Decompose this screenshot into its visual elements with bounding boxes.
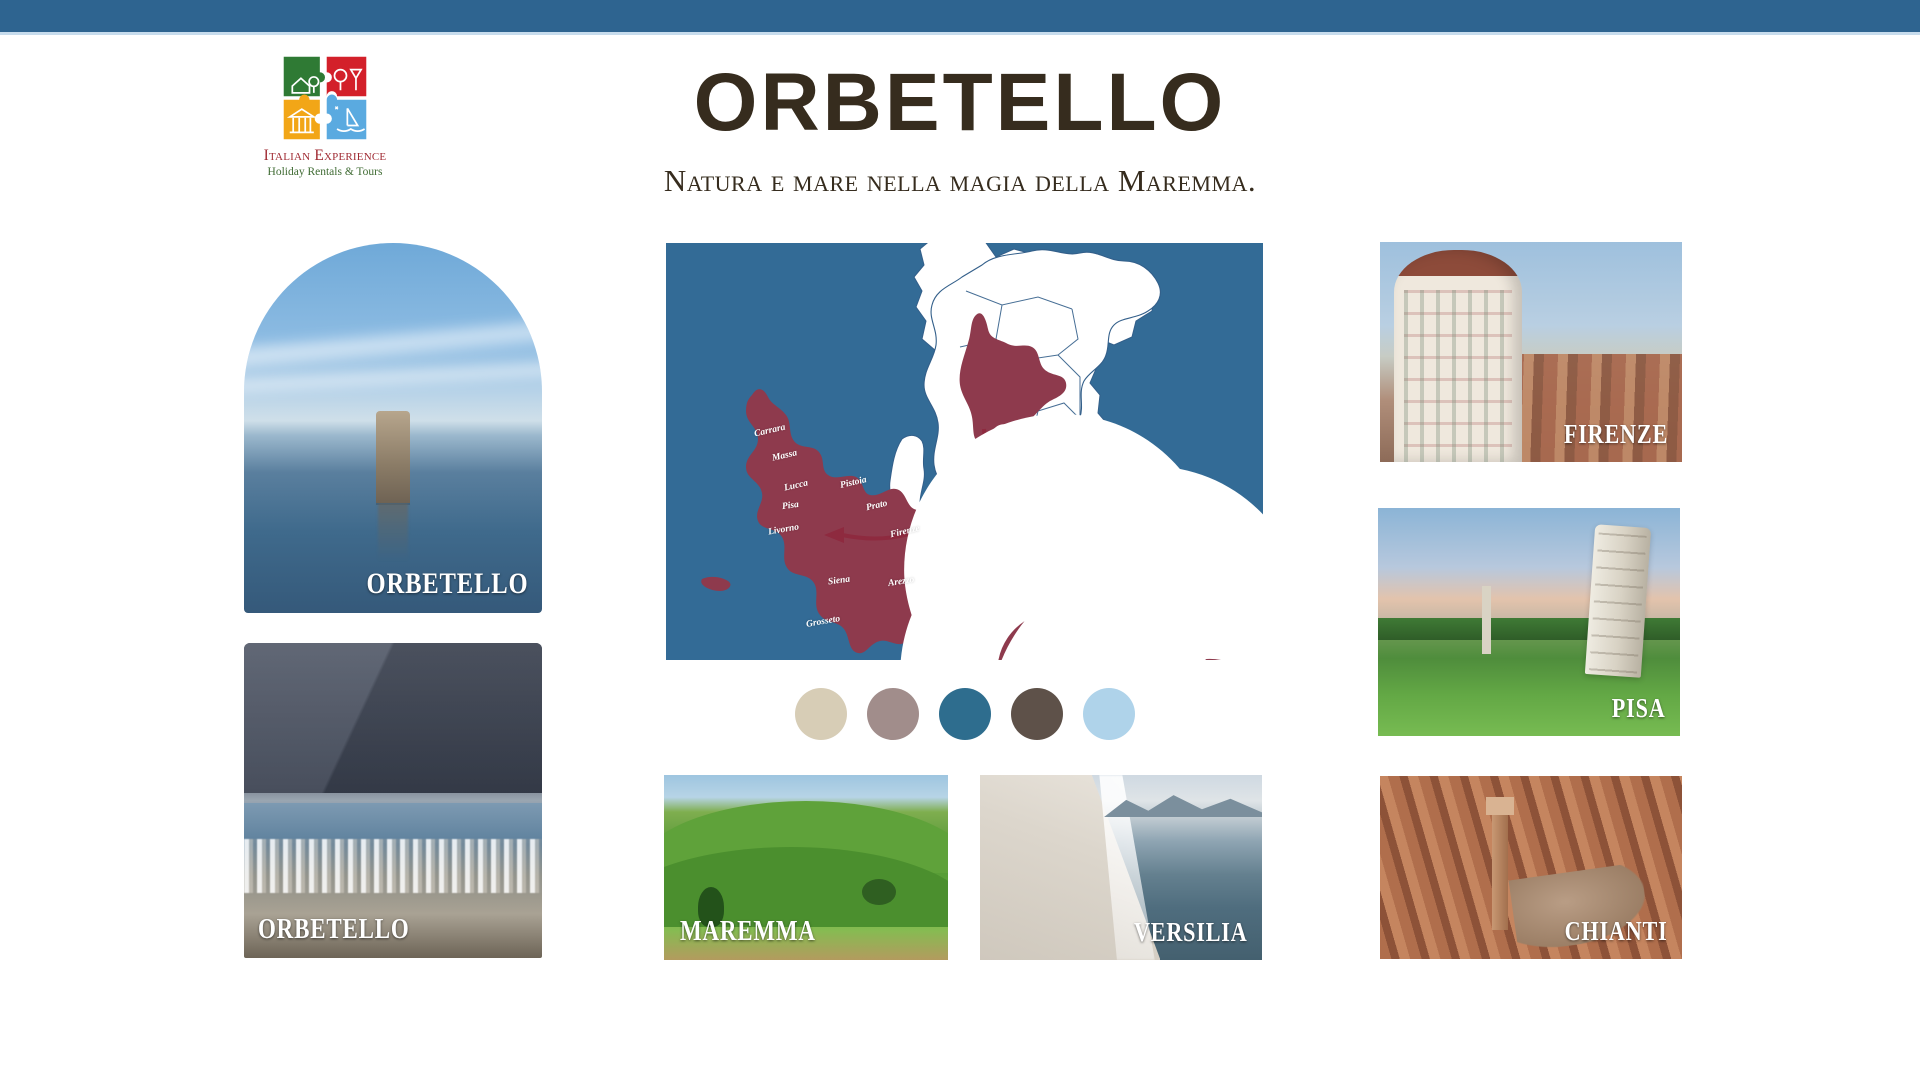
card-label-pisa: PISA — [1612, 693, 1666, 724]
hillside-shape — [244, 643, 542, 793]
bush-shape — [862, 879, 896, 905]
town-buildings-shape — [244, 839, 542, 893]
photo-card-versilia[interactable]: VERSILIA — [980, 775, 1262, 960]
map-pin-lucca[interactable] — [790, 469, 799, 481]
map-pin-livorno[interactable] — [758, 518, 767, 530]
duomo-shape — [1394, 250, 1522, 462]
top-accent-underline — [0, 32, 1920, 35]
swatch-light-blue[interactable] — [1083, 688, 1135, 740]
swatch-beige[interactable] — [795, 688, 847, 740]
bell-tower-shape — [1492, 809, 1508, 930]
card-label-chianti: CHIANTI — [1565, 916, 1668, 947]
cloud-streak-icon — [244, 361, 542, 393]
color-palette — [795, 688, 1135, 740]
swatch-dusty-rose[interactable] — [867, 688, 919, 740]
page-subtitle: Natura e mare nella magia della Maremma. — [0, 163, 1920, 199]
card-label-orbetello-tower: ORBETELLO — [366, 567, 528, 601]
swatch-dark-brown[interactable] — [1011, 688, 1063, 740]
tower-reflection-shape — [378, 503, 408, 561]
photo-card-orbetello-lagoon[interactable]: ORBETELLO — [244, 643, 542, 958]
card-label-orbetello-lagoon: ORBETELLO — [258, 914, 410, 946]
photo-card-orbetello-tower[interactable]: ORBETELLO — [244, 243, 542, 613]
map-pin-firenze[interactable] — [902, 513, 911, 525]
card-label-firenze: FIRENZE — [1564, 419, 1668, 450]
poster-page: Italian Experience Holiday Rentals & Tou… — [0, 0, 1920, 1079]
page-title: ORBETELLO — [0, 62, 1920, 144]
map-pin-grosseto[interactable] — [814, 629, 823, 641]
card-label-versilia: VERSILIA — [1134, 917, 1248, 948]
photo-card-pisa[interactable]: PISA — [1378, 508, 1680, 736]
elba-island-shape — [701, 577, 730, 591]
map-pin-siena[interactable] — [848, 563, 857, 575]
map-pin-carrara[interactable] — [762, 414, 771, 426]
photo-card-maremma[interactable]: MAREMMA — [664, 775, 948, 960]
cloud-streak-icon — [244, 319, 542, 369]
photo-card-chianti[interactable]: CHIANTI — [1380, 776, 1682, 959]
monument-column-shape — [1482, 586, 1491, 654]
map-pin-pisa[interactable] — [770, 498, 779, 510]
mountain-ridge-shape — [1104, 791, 1262, 817]
windmill-tower-shape — [376, 411, 410, 503]
card-label-maremma: MAREMMA — [680, 916, 816, 948]
italy-tuscany-map[interactable]: Carrara Massa Lucca Pistoia Pisa Prato L… — [666, 243, 1263, 660]
photo-card-firenze[interactable]: FIRENZE — [1380, 242, 1682, 462]
map-pin-massa[interactable] — [778, 439, 787, 451]
leaning-tower-shape — [1585, 524, 1651, 678]
swatch-teal-blue[interactable] — [939, 688, 991, 740]
lagoon-water-shape — [244, 803, 542, 843]
top-accent-bar — [0, 0, 1920, 32]
